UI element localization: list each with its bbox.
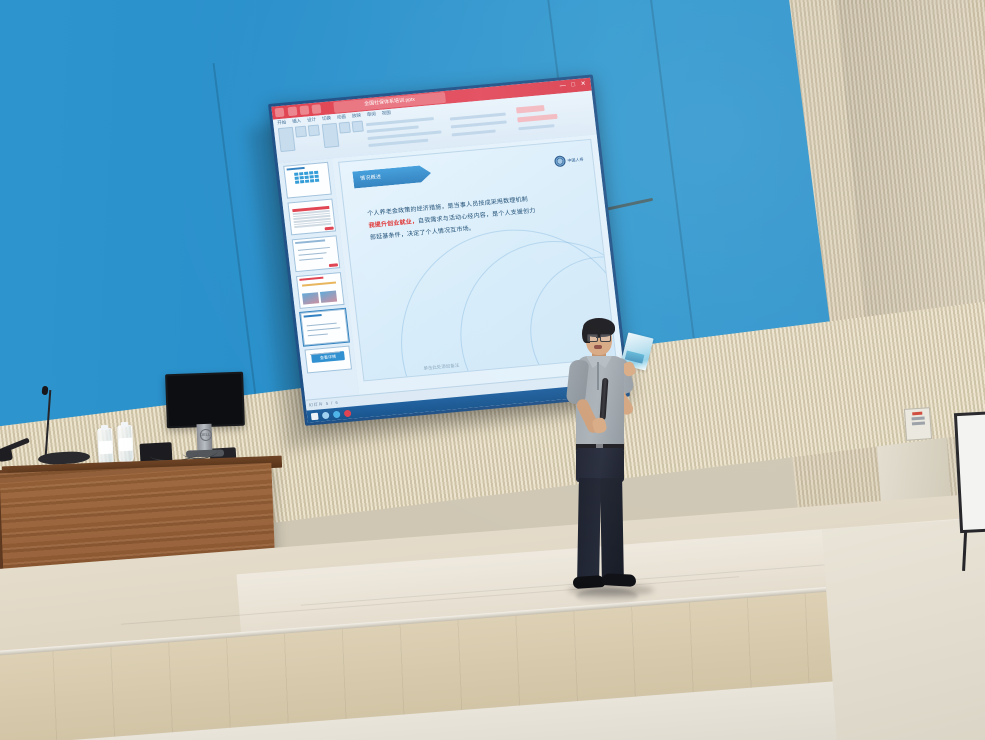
thumb-badge <box>325 227 334 231</box>
bottle-cap <box>121 422 128 427</box>
font-size-box[interactable] <box>367 125 419 133</box>
shirt-placket <box>597 362 599 390</box>
wall-control-panel[interactable] <box>904 407 932 441</box>
wps-icon[interactable] <box>344 409 352 417</box>
slide-thumbnail-5[interactable] <box>300 309 349 346</box>
slide-title-text: 情况概述 <box>352 165 432 189</box>
highlight-tool[interactable] <box>516 105 545 113</box>
save-icon[interactable] <box>288 106 298 116</box>
slide-org-logo: 中国人寿 <box>554 154 584 168</box>
ribbon-tab-0[interactable]: 开始 <box>277 119 287 126</box>
eyeglasses-icon <box>587 334 611 340</box>
microphone-mount <box>0 447 13 462</box>
hall-floor-right <box>822 511 985 740</box>
water-bottle-2 <box>117 425 134 463</box>
panel-indicator-red <box>912 412 922 416</box>
logo-emblem-icon <box>554 155 566 167</box>
lecture-hall-photo: 全国社保体系培训.pptx — □ ✕ 开始 插入 设计 切换 动画 放映 审阅… <box>0 0 985 740</box>
ribbon-tab-6[interactable]: 审阅 <box>367 111 377 118</box>
left-leg <box>577 478 601 582</box>
start-icon[interactable] <box>311 412 319 420</box>
mouth <box>594 345 602 349</box>
font-name-box[interactable] <box>366 117 434 126</box>
slide-title-banner[interactable]: 情况概述 <box>352 165 432 189</box>
alignment-tools[interactable] <box>368 139 428 147</box>
cut-button[interactable] <box>295 126 307 138</box>
copy-button[interactable] <box>308 124 320 136</box>
ppt-logo-icon <box>275 108 285 118</box>
window-controls[interactable]: — □ ✕ <box>559 80 588 89</box>
layout-button[interactable] <box>339 122 351 134</box>
bottle-label <box>99 441 113 455</box>
wall-seam-1 <box>213 63 259 410</box>
slide-thumbnail-1[interactable] <box>283 162 332 199</box>
slide-thumbnail-6[interactable]: 查看详情 <box>304 346 352 374</box>
ribbon-tab-3[interactable]: 切换 <box>322 115 332 122</box>
thumb-photo-pair <box>302 291 337 305</box>
right-leg <box>600 478 624 582</box>
thumb-title-bar <box>299 277 323 281</box>
shape-gallery-row2[interactable] <box>451 120 507 128</box>
find-tool[interactable] <box>517 114 557 123</box>
presenter-floor-reflection <box>576 588 638 604</box>
ribbon-group-slides[interactable] <box>322 120 366 148</box>
ribbon-tab-5[interactable]: 放映 <box>352 113 362 120</box>
bottle-label <box>119 438 133 452</box>
logo-text: 中国人寿 <box>567 156 584 163</box>
monitor-screen <box>167 374 243 427</box>
paste-button[interactable] <box>278 127 296 152</box>
thumb-title-bar <box>304 314 322 318</box>
panel-switch-1[interactable] <box>911 417 924 421</box>
edge-icon[interactable] <box>333 410 341 418</box>
shape-gallery-row1[interactable] <box>450 112 506 120</box>
thumb-title-bar <box>287 167 305 171</box>
display-sign-board <box>954 411 985 533</box>
ribbon-tab-7[interactable]: 视图 <box>382 110 392 117</box>
ribbon-tab-1[interactable]: 插入 <box>292 118 302 125</box>
ribbon-group-clipboard[interactable] <box>278 124 322 152</box>
new-slide-button[interactable] <box>322 123 340 148</box>
slide-thumbnail-4[interactable] <box>296 272 345 309</box>
shape-gallery-row3[interactable] <box>452 129 496 136</box>
slide-thumbnail-2[interactable] <box>287 199 336 236</box>
panel-switch-2[interactable] <box>911 422 924 426</box>
reset-button[interactable] <box>352 120 364 132</box>
right-shoe <box>602 573 637 587</box>
dell-logo: DELL <box>199 429 211 441</box>
bottle-cap <box>101 425 108 430</box>
sign-board-surface <box>954 411 985 533</box>
thumb-grid-chart <box>294 171 319 184</box>
ribbon-tab-4[interactable]: 动画 <box>337 114 347 121</box>
thumb-title-bar <box>295 239 325 244</box>
undo-icon[interactable] <box>299 105 309 115</box>
podium-monitor <box>165 372 245 429</box>
select-tool[interactable] <box>518 124 554 130</box>
thumb-badge <box>329 263 338 267</box>
ribbon-tab-2[interactable]: 设计 <box>307 117 317 124</box>
presenter <box>558 318 668 596</box>
water-bottle-1 <box>97 428 114 466</box>
search-icon[interactable] <box>322 411 330 419</box>
wall-seam-3 <box>647 0 696 351</box>
redo-icon[interactable] <box>311 104 321 114</box>
slide-thumbnail-3[interactable] <box>292 235 341 272</box>
left-shoe <box>573 575 606 589</box>
